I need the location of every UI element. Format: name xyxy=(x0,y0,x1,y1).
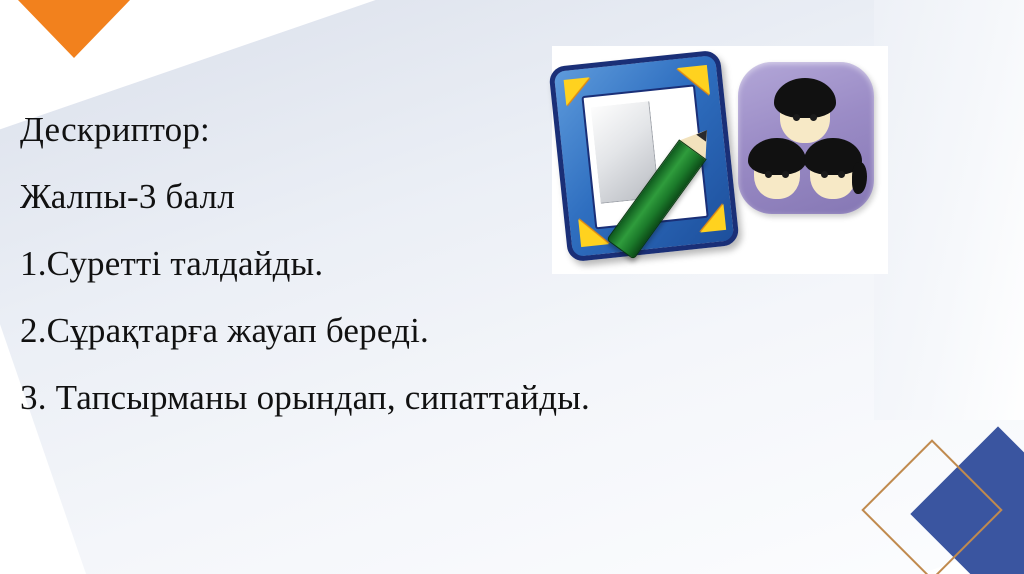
eye-left xyxy=(793,114,800,121)
corner-clip-top-left-icon xyxy=(564,77,593,106)
slide-canvas: Дескриптор: Жалпы-3 балл 1.Суретті талда… xyxy=(0,0,1024,574)
right-edge-gradient-band xyxy=(874,0,1024,420)
corner-clip-bottom-left-icon xyxy=(578,216,609,247)
orange-triangle-decoration xyxy=(18,0,130,58)
corner-clip-top-right-icon xyxy=(677,65,710,98)
person-face-left xyxy=(748,138,806,200)
ponytail-shape xyxy=(852,162,867,194)
person-face-top xyxy=(774,78,836,144)
person-face-right xyxy=(804,138,862,200)
three-people-icon xyxy=(738,62,874,214)
hair-shape xyxy=(774,78,836,118)
hair-shape xyxy=(748,138,806,175)
illustration-picture-frame-and-people xyxy=(552,46,888,274)
corner-clip-bottom-right-icon xyxy=(698,204,727,233)
text-line-criterion-3: 3. Тапсырманы орындап, сипаттайды. xyxy=(20,364,780,431)
text-line-criterion-2: 2.Сұрақтарға жауап береді. xyxy=(20,297,780,364)
